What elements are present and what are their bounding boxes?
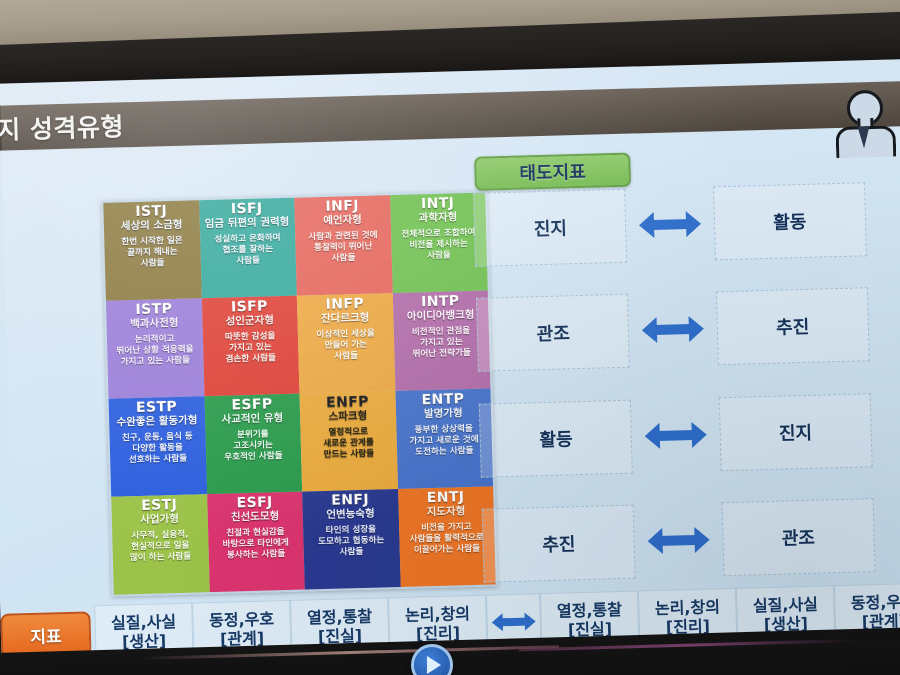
mbti-nickname: 백과사전형 [130,317,179,330]
mbti-code: ISTJ [135,204,167,220]
arrow-cell [632,421,720,449]
mbti-cell-esfj: ESFJ친선도모형친절과 현실감을 바탕으로 타인에게 봉사하는 사람들 [207,492,305,593]
mbti-nickname: 세상의 소금형 [121,218,183,232]
attitude-pair-row: 진지활동 [473,182,867,267]
indicator-line-1: 논리,창의 [405,604,470,625]
mbti-description: 타인의 성장을 도모하고 협동하는 사람들 [317,524,386,559]
mbti-code: ESFP [231,397,272,413]
double-arrow-icon [644,421,707,449]
mbti-nickname: 아이디어뱅크형 [407,309,475,323]
mbti-description: 사람과 관련된 것에 통찰력이 뛰어난 사람들 [307,230,379,265]
double-arrow-icon [492,612,536,631]
person-avatar-icon [832,88,892,156]
double-arrow-icon [642,316,705,344]
mbti-description: 친절과 현실감을 바탕으로 타인에게 봉사하는 사람들 [221,527,290,562]
mbti-code: ENFP [326,395,369,411]
mbti-description: 분위기를 고조시키는 우호적인 사람들 [223,429,284,464]
attitude-right-box[interactable]: 진지 [718,393,872,471]
mbti-code: INTJ [421,196,455,212]
mbti-code: INTP [421,294,460,310]
mbti-nickname: 발명가형 [424,407,463,420]
attitude-right-box[interactable]: 활동 [713,182,867,260]
mbti-nickname: 임금 뒤편의 권력형 [205,216,290,230]
indicator-line-1: 실질,사실 [753,595,818,616]
mbti-code: ISTP [135,302,172,318]
mbti-cell-istj: ISTJ세상의 소금형한번 시작한 일은 끝까지 해내는 사람들 [103,200,201,301]
mbti-description: 논리적이고 뛰어난 상황 적응력을 가지고 있는 사람들 [115,333,195,369]
mbti-nickname: 사업가형 [140,513,179,526]
mbti-nickname: 스파크형 [328,410,367,423]
attitude-right-box[interactable]: 추진 [715,288,869,366]
mbti-nickname: 잔다르크형 [321,311,370,324]
mbti-nickname: 친선도모형 [231,510,280,523]
mbti-cell-isfj: ISFJ임금 뒤편의 권력형성실하고 온화하며 협조를 잘하는 사람들 [199,198,297,299]
mbti-nickname: 과학자형 [419,211,458,224]
presentation-slide: 지 성격유형 ISTJ세상의 소금형한번 시작한 일은 끝까지 해내는 사람들I… [0,59,900,664]
arrow-cell [629,316,717,344]
mbti-cell-enfj: ENFJ언변능숙형타인의 성장을 도모하고 협동하는 사람들 [302,489,400,590]
attitude-pair-list: 진지활동관조추진활등진지추진관조 [473,182,875,582]
attitude-left-box[interactable]: 활등 [479,399,633,477]
mbti-cell-istp: ISTP백과사전형논리적이고 뛰어난 상황 적응력을 가지고 있는 사람들 [106,298,204,399]
mbti-cell-infj: INFJ예언자형사람과 관련된 것에 통찰력이 뛰어난 사람들 [294,195,392,296]
mbti-code: ENTJ [427,490,465,506]
mbti-cell-esfp: ESFP사교적인 유형분위기를 고조시키는 우호적인 사람들 [204,394,302,495]
mbti-code: ENTP [421,392,464,408]
mbti-description: 비전적인 관점을 가지고 있는 뛰어난 전략가들 [411,326,472,361]
mbti-code: ESFJ [236,495,272,511]
mbti-nickname: 사교적인 유형 [221,412,283,426]
indicator-line-1: 열정,통찰 [557,600,622,621]
mbti-cell-isfp: ISFP성인군자형따뜻한 감성을 가지고 있는 겸손한 사람들 [201,296,299,397]
attitude-left-box[interactable]: 추진 [482,505,636,583]
mbti-description: 열정적으로 새로운 관계를 만드는 사람들 [322,426,375,461]
mbti-description: 사무적, 실용적, 현실적으로 일을 많이 하는 사람들 [128,529,192,564]
mbti-description: 친구, 운동, 음식 등 다양한 활동을 선호하는 사람들 [121,431,195,466]
arrow-cell [626,210,714,238]
mbti-description: 한번 시작한 일은 끝까지 해내는 사람들 [120,235,184,270]
mbti-nickname: 지도자형 [426,505,465,518]
attitude-left-box[interactable]: 관조 [476,294,630,372]
attitude-right-box[interactable]: 관조 [721,498,875,576]
mbti-cell-enfp: ENFP스파크형열정적으로 새로운 관계를 만드는 사람들 [299,391,397,492]
slide-title-bar: 지 성격유형 [0,81,900,151]
mbti-code: INFJ [325,199,359,215]
mbti-code: ISFJ [231,202,263,218]
mbti-description: 따뜻한 감성을 가지고 있는 겸손한 사람들 [224,331,277,366]
mbti-cell-estj: ESTJ사업가형사무적, 실용적, 현실적으로 일을 많이 하는 사람들 [111,494,209,595]
mbti-cell-estp: ESTP수완좋은 활동가형친구, 운동, 음식 등 다양한 활동을 선호하는 사… [109,396,207,497]
arrow-cell [635,526,723,554]
indicator-line-1: 열정,통찰 [307,607,372,628]
mbti-nickname: 성인군자형 [225,314,274,327]
attitude-indicator-badge: 태도지표 [474,153,631,191]
mbti-code: ISFP [231,299,268,315]
attitude-pair-row: 추진관조 [482,498,876,583]
mbti-type-grid: ISTJ세상의 소금형한번 시작한 일은 끝까지 해내는 사람들ISFJ임금 뒤… [101,190,498,596]
mbti-description: 이상적인 세상을 만들어 가는 사람들 [315,328,376,363]
double-arrow-icon [647,527,710,555]
mbti-code: ENFJ [331,493,369,509]
attitude-left-box[interactable]: 진지 [473,189,627,267]
indicator-line-1: 실질,사실 [111,612,176,633]
mbti-description: 전체적으로 조합하여 비전을 제시하는 사람들 [400,228,477,264]
mbti-code: INFP [325,297,364,313]
indicator-line-1: 동정,우호 [209,609,274,630]
mbti-description: 성실하고 온화하며 협조를 잘하는 사람들 [213,233,282,268]
indicator-line-1: 논리,창의 [655,597,720,618]
attitude-pair-row: 활등진지 [479,393,873,478]
photo-stage: 지 성격유형 ISTJ세상의 소금형한번 시작한 일은 끝까지 해내는 사람들I… [0,0,900,675]
indicator-line-1: 동정,우호 [851,592,900,613]
double-arrow-icon [639,211,702,239]
mbti-description: 풍부한 상상력을 가지고 새로운 것에 도전하는 사람들 [408,424,480,459]
mbti-code: ESTJ [141,498,177,514]
attitude-pair-row: 관조추진 [476,288,870,373]
mbti-nickname: 언변능숙형 [326,507,375,520]
mbti-description: 비전을 가지고 사람들을 활력적으로 이끌어가는 사람들 [408,521,485,557]
mbti-nickname: 예언자형 [323,214,362,227]
mbti-code: ESTP [136,400,177,416]
mbti-nickname: 수완좋은 활동가형 [116,414,197,428]
mbti-cell-infp: INFP잔다르크형이상적인 세상을 만들어 가는 사람들 [297,293,395,394]
page-title: 지 성격유형 [0,107,124,146]
